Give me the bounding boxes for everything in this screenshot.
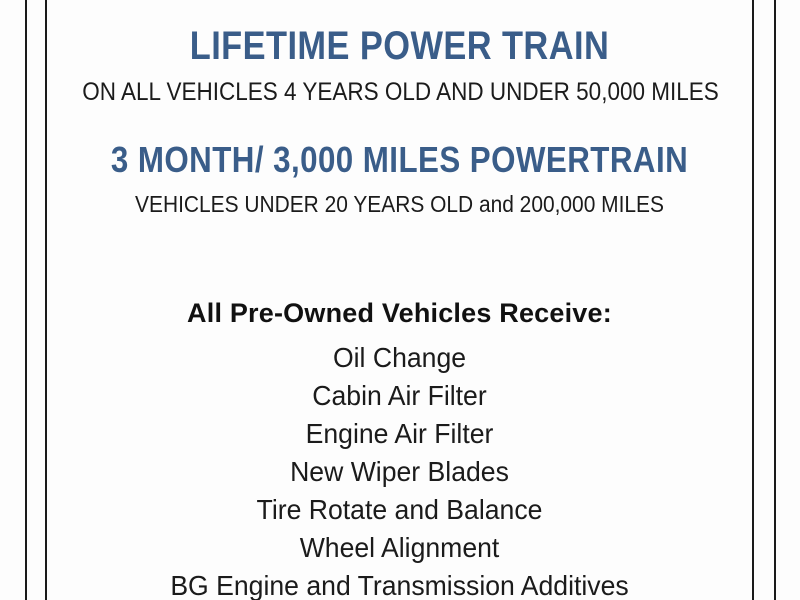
service-item: Oil Change: [65, 339, 735, 377]
warranty-subline-lifetime: ON ALL VEHICLES 4 YEARS OLD AND UNDER 50…: [82, 80, 717, 105]
warranty-flyer: LIFETIME POWER TRAIN ON ALL VEHICLES 4 Y…: [0, 0, 800, 600]
service-item: New Wiper Blades: [65, 453, 735, 491]
frame-rule-right-outer: [774, 0, 776, 600]
services-section: All Pre-Owned Vehicles Receive: Oil Chan…: [47, 300, 752, 600]
service-item: BG Engine and Transmission Additives: [65, 567, 735, 600]
service-item: Tire Rotate and Balance: [65, 491, 735, 529]
services-list: Oil ChangeCabin Air FilterEngine Air Fil…: [47, 339, 752, 600]
service-item: Engine Air Filter: [65, 415, 735, 453]
warranty-subline-3month: VEHICLES UNDER 20 YEARS OLD and 200,000 …: [79, 193, 721, 216]
service-item: Cabin Air Filter: [65, 377, 735, 415]
flyer-content: LIFETIME POWER TRAIN ON ALL VEHICLES 4 Y…: [47, 0, 752, 600]
service-item: Wheel Alignment: [65, 529, 735, 567]
services-heading: All Pre-Owned Vehicles Receive:: [47, 300, 752, 327]
frame-rule-right-inner: [752, 0, 754, 600]
warranty-headline-lifetime: LIFETIME POWER TRAIN: [96, 26, 702, 66]
frame-rule-left-outer: [25, 0, 27, 600]
warranty-headline-3month: 3 MONTH/ 3,000 MILES POWERTRAIN: [93, 142, 706, 178]
